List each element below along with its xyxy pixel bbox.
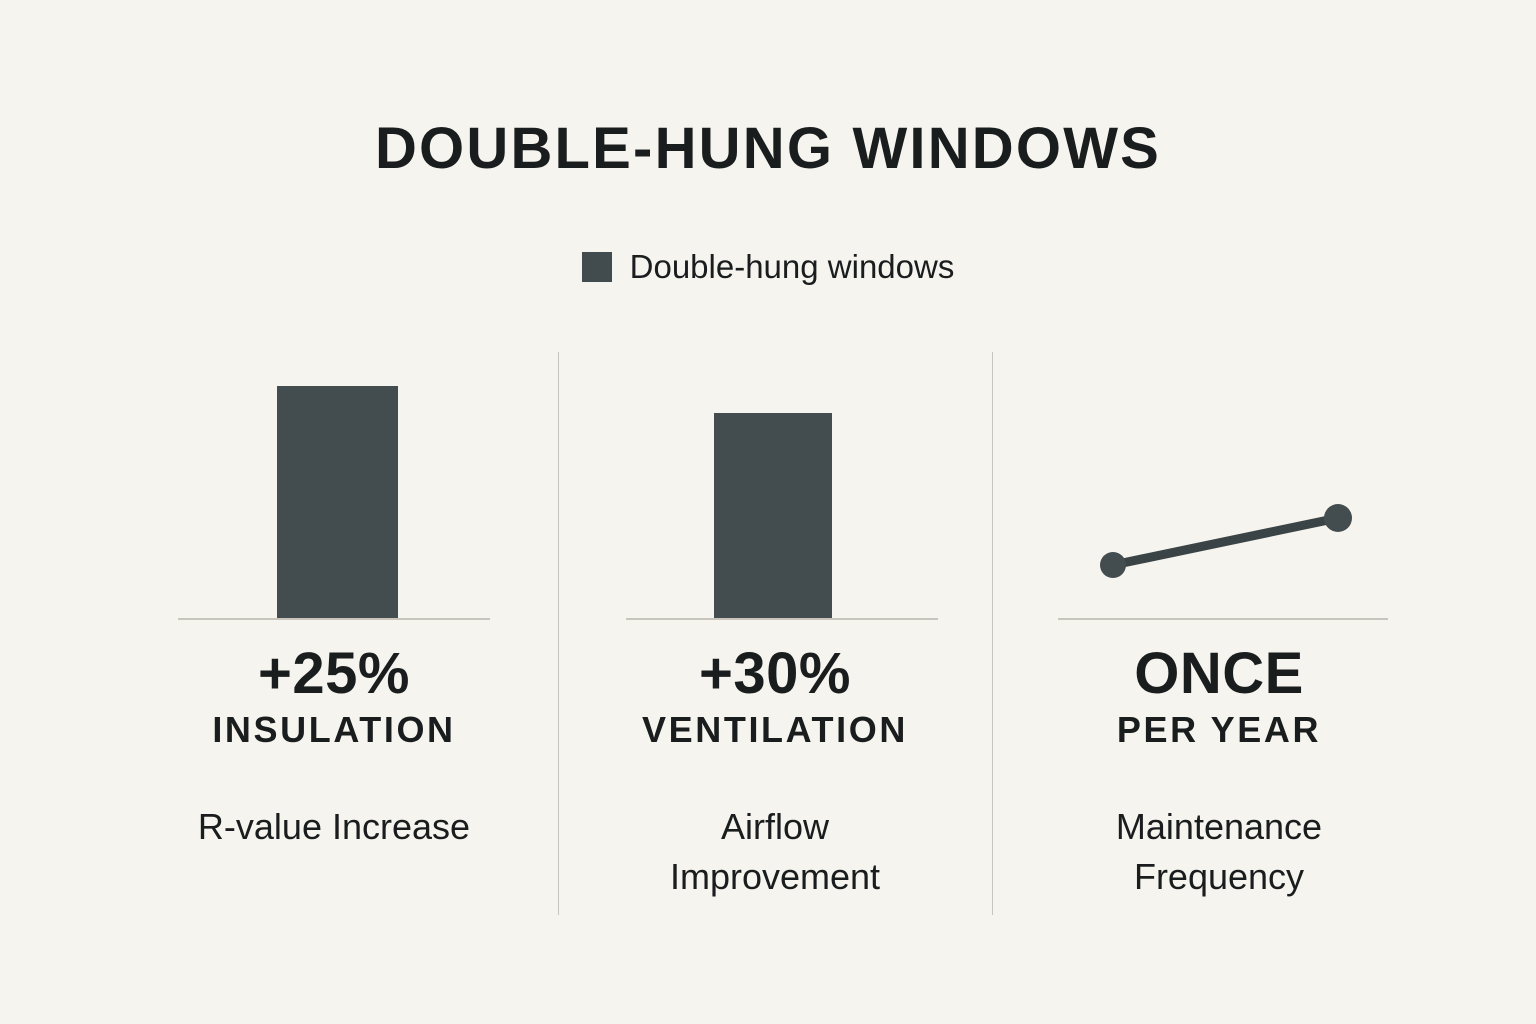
axis-baseline bbox=[178, 618, 490, 620]
stat-panel-maintenance: ONCE PER YEAR Maintenance Frequency bbox=[1002, 352, 1436, 922]
stat-description: Maintenance Frequency bbox=[1002, 802, 1436, 901]
bar-chart-ventilation bbox=[568, 352, 982, 622]
stat-value: +30% bbox=[568, 644, 982, 705]
stat-panel-insulation: +25% INSULATION R-value Increase bbox=[120, 352, 548, 922]
stat-description-line-2: Improvement bbox=[568, 852, 982, 902]
infographic-canvas: DOUBLE-HUNG WINDOWS Double-hung windows … bbox=[0, 0, 1536, 1024]
data-point-start bbox=[1100, 552, 1126, 578]
legend-swatch-icon bbox=[582, 252, 612, 282]
axis-baseline bbox=[1058, 618, 1388, 620]
stat-description: Airflow Improvement bbox=[568, 802, 982, 901]
stat-panel-ventilation: +30% VENTILATION Airflow Improvement bbox=[568, 352, 982, 922]
data-point-end bbox=[1324, 504, 1352, 532]
trend-line bbox=[1113, 518, 1338, 565]
stat-block: ONCE PER YEAR bbox=[1002, 644, 1436, 749]
bar-chart-insulation bbox=[120, 352, 548, 622]
stat-description-line-2: Frequency bbox=[1002, 852, 1436, 902]
panel-divider-2 bbox=[992, 352, 993, 915]
bar-insulation bbox=[277, 386, 398, 620]
stat-description: R-value Increase bbox=[120, 802, 548, 852]
stat-block: +30% VENTILATION bbox=[568, 644, 982, 749]
stat-description-line-1: R-value Increase bbox=[120, 802, 548, 852]
stat-description-line-1: Maintenance bbox=[1002, 802, 1436, 852]
bar-ventilation bbox=[714, 413, 832, 620]
stat-unit: INSULATION bbox=[120, 711, 548, 749]
stat-block: +25% INSULATION bbox=[120, 644, 548, 749]
stat-value: +25% bbox=[120, 644, 548, 705]
stat-description-line-1: Airflow bbox=[568, 802, 982, 852]
stat-unit: PER YEAR bbox=[1002, 711, 1436, 749]
stat-value: ONCE bbox=[1002, 644, 1436, 705]
panel-divider-1 bbox=[558, 352, 559, 915]
axis-baseline bbox=[626, 618, 938, 620]
legend-item-label: Double-hung windows bbox=[630, 250, 955, 283]
stat-panels: +25% INSULATION R-value Increase +30% VE… bbox=[0, 352, 1536, 922]
chart-legend: Double-hung windows bbox=[0, 250, 1536, 283]
line-chart-maintenance bbox=[1002, 352, 1436, 622]
sparkline-svg bbox=[1002, 352, 1436, 622]
stat-unit: VENTILATION bbox=[568, 711, 982, 749]
page-title: DOUBLE-HUNG WINDOWS bbox=[0, 120, 1536, 178]
